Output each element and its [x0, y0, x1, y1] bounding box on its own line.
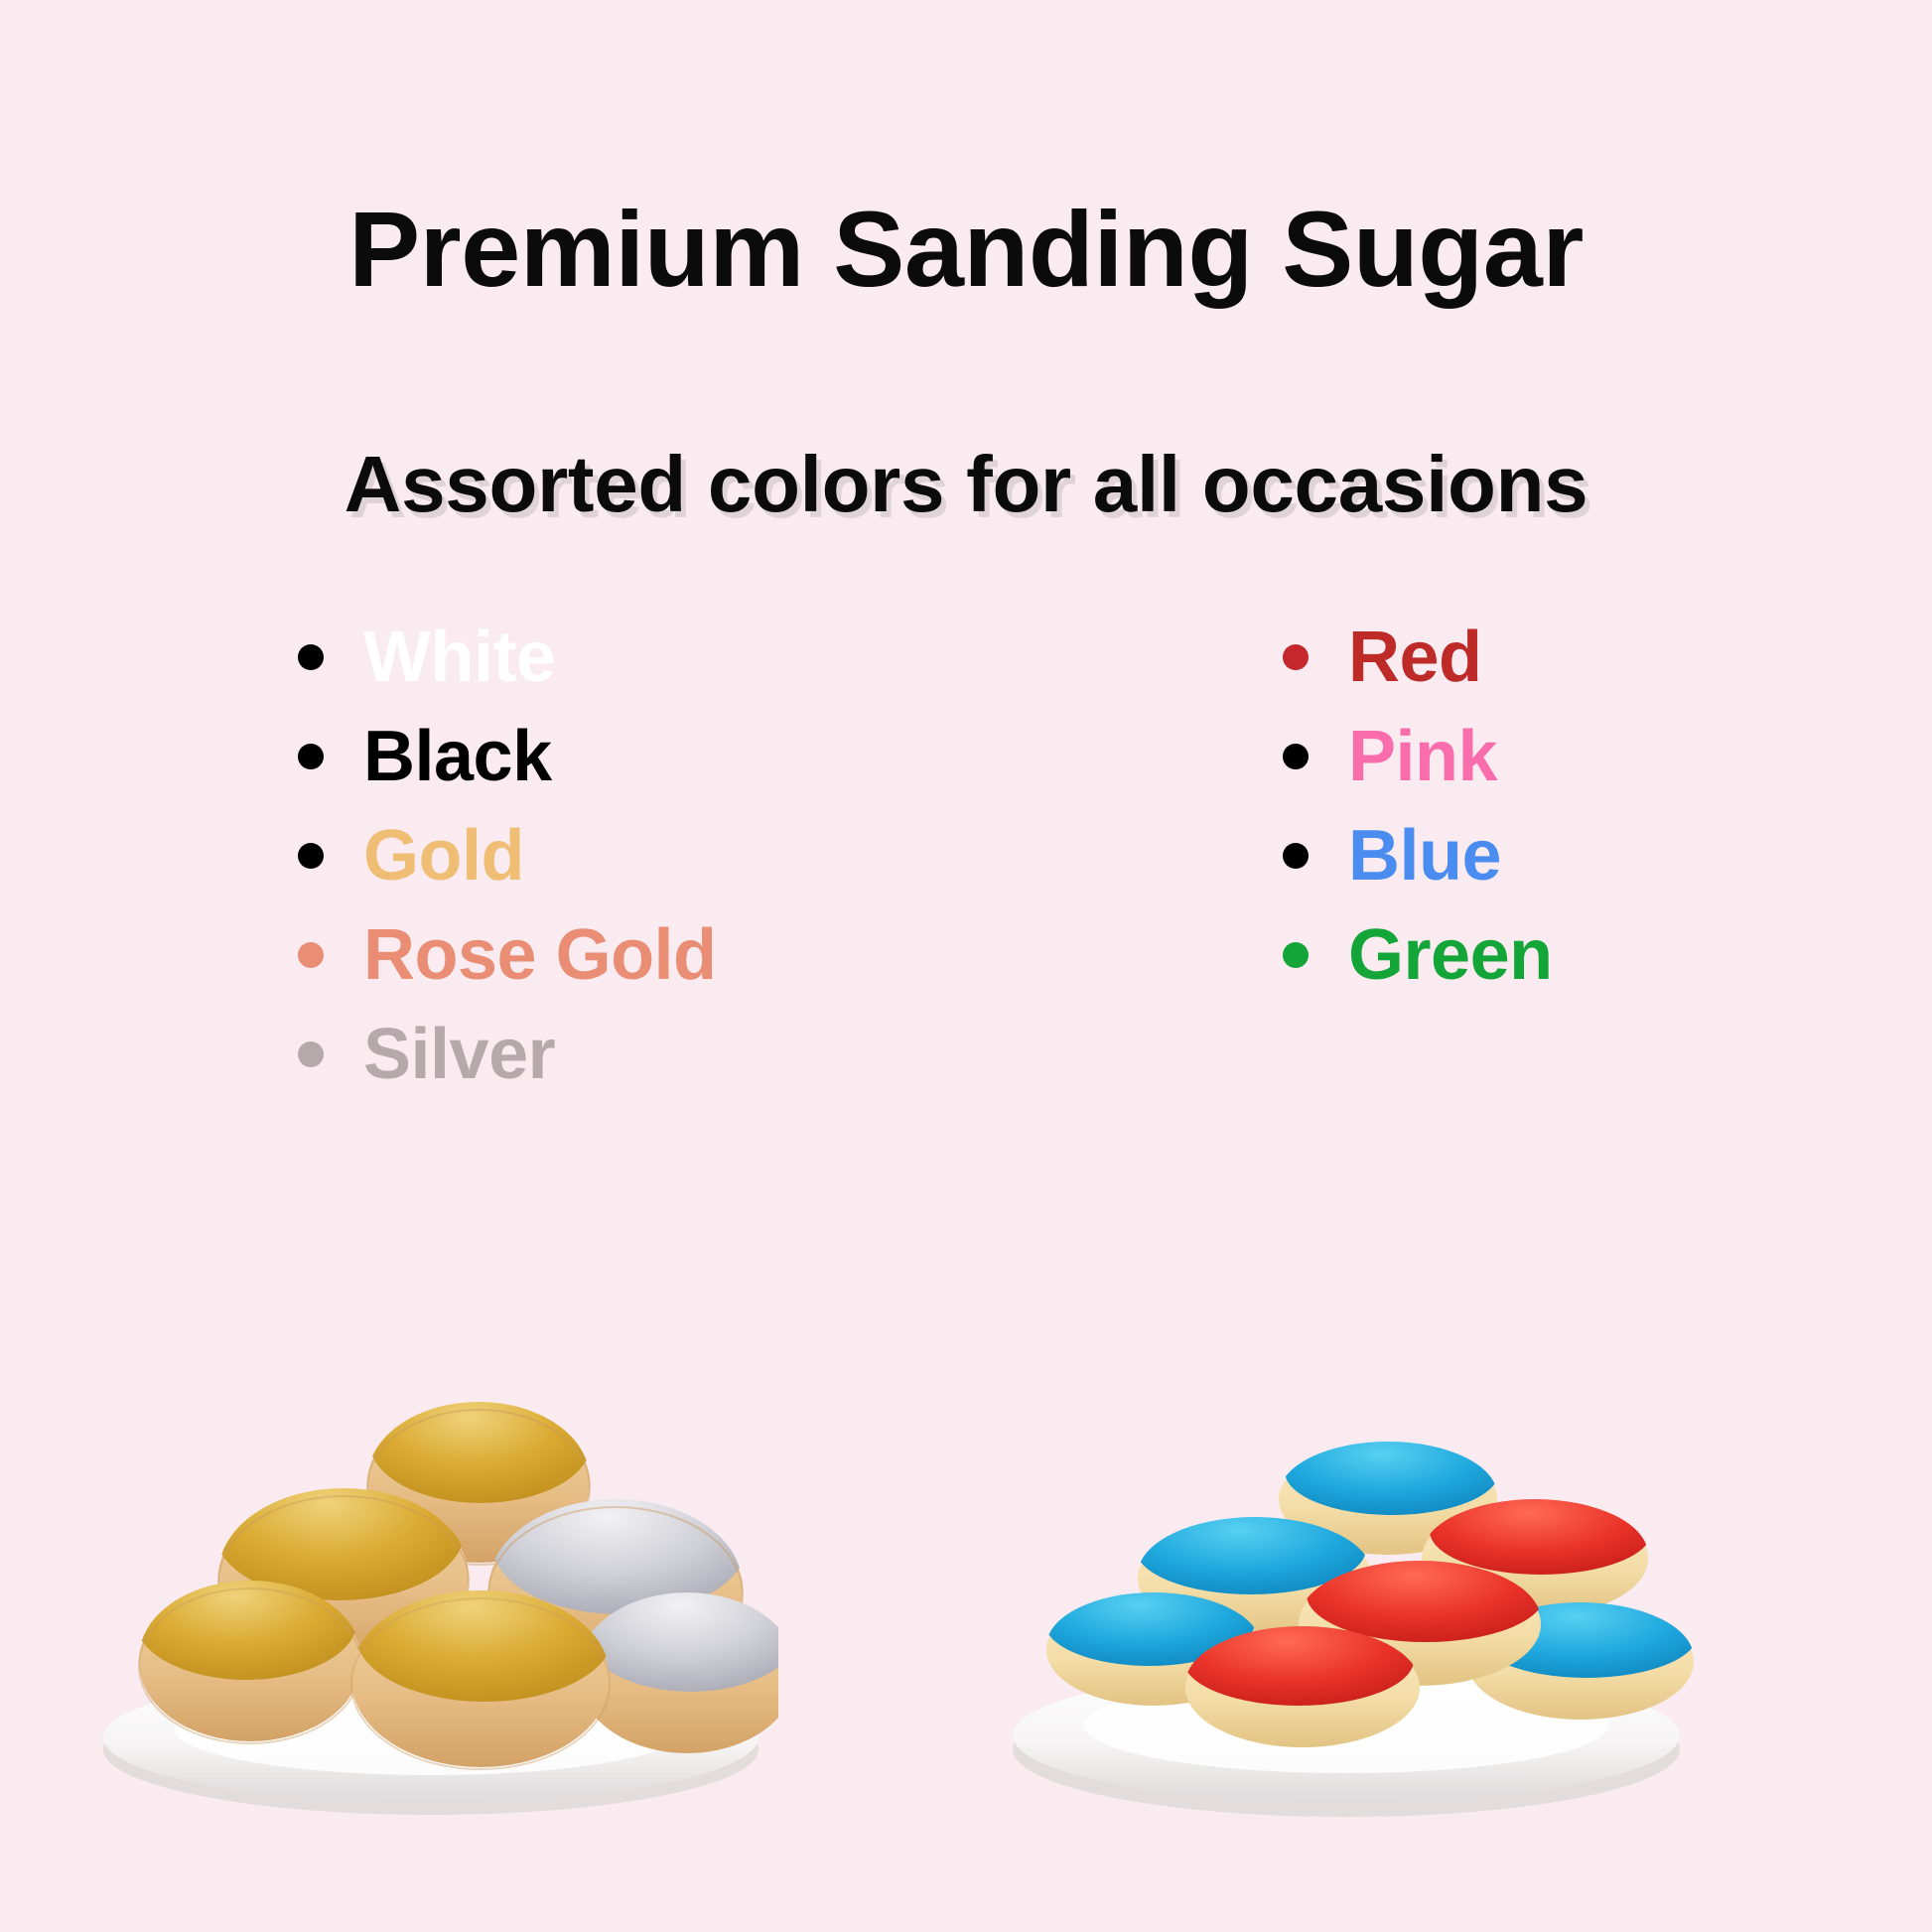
color-label: Black [363, 721, 552, 792]
color-label: Gold [363, 820, 524, 892]
bullet-icon [298, 942, 324, 968]
color-label: White [363, 621, 555, 693]
list-item: Gold [298, 806, 717, 905]
list-item: Red [1283, 608, 1553, 707]
list-item: Rose Gold [298, 905, 717, 1005]
bullet-icon [298, 843, 324, 869]
bullet-icon [1283, 744, 1309, 769]
poster-canvas: Premium Sanding Sugar Assorted colors fo… [0, 0, 1932, 1932]
bullet-icon [298, 744, 324, 769]
bullet-icon [1283, 942, 1309, 968]
color-label: Pink [1348, 721, 1497, 792]
list-item: Silver [298, 1005, 717, 1104]
page-subtitle: Assorted colors for all occasions [0, 443, 1932, 526]
color-list: White Black Gold Rose Gold Silver [0, 608, 1932, 1124]
color-list-right-column: Red Pink Blue Green [1283, 608, 1553, 1005]
bullet-icon [1283, 644, 1309, 670]
color-label: Silver [363, 1019, 555, 1090]
color-label: Red [1348, 621, 1482, 693]
color-label: Green [1348, 919, 1553, 991]
left-plate-image [83, 1360, 778, 1837]
list-item: Black [298, 707, 717, 806]
list-item: Pink [1283, 707, 1553, 806]
list-item: Green [1283, 905, 1553, 1005]
color-list-left-column: White Black Gold Rose Gold Silver [298, 608, 717, 1104]
color-label: Rose Gold [363, 919, 717, 991]
bullet-icon [298, 1041, 324, 1067]
color-label: Blue [1348, 820, 1501, 892]
bullet-icon [1283, 843, 1309, 869]
right-plate-image [999, 1360, 1694, 1837]
list-item: Blue [1283, 806, 1553, 905]
list-item: White [298, 608, 717, 707]
page-title: Premium Sanding Sugar [0, 193, 1932, 305]
bullet-icon [298, 644, 324, 670]
